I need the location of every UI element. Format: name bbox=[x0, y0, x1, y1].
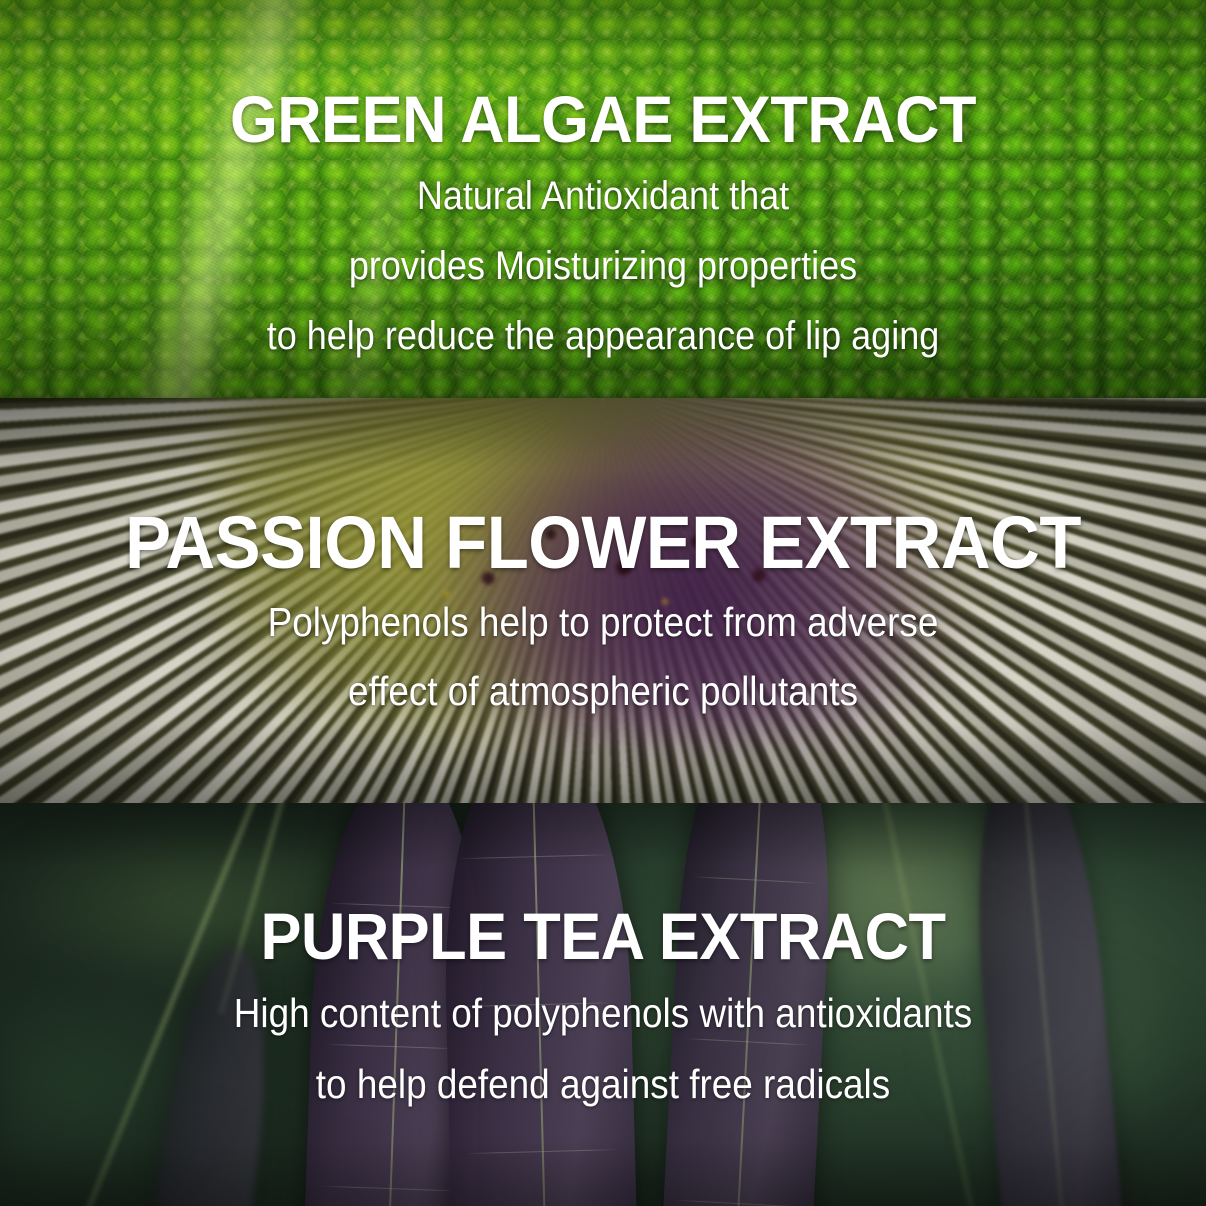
passion-flower-body-line-1: Polyphenols help to protect from adverse bbox=[60, 596, 1145, 649]
ingredient-infographic: GREEN ALGAE EXTRACT Natural Antioxidant … bbox=[0, 0, 1206, 1206]
panel-green-algae: GREEN ALGAE EXTRACT Natural Antioxidant … bbox=[0, 0, 1206, 398]
green-algae-body-line-1: Natural Antioxidant that bbox=[60, 170, 1145, 222]
purple-tea-body-line-1: High content of polyphenols with antioxi… bbox=[60, 987, 1145, 1040]
panel-passion-flower: PASSION FLOWER EXTRACT Polyphenols help … bbox=[0, 398, 1206, 803]
purple-tea-body-line-2: to help defend against free radicals bbox=[60, 1058, 1145, 1111]
passion-flower-headline: PASSION FLOWER EXTRACT bbox=[42, 506, 1164, 580]
green-algae-text-block: GREEN ALGAE EXTRACT Natural Antioxidant … bbox=[0, 86, 1206, 362]
green-algae-body-line-3: to help reduce the appearance of lip agi… bbox=[60, 310, 1145, 362]
green-algae-headline: GREEN ALGAE EXTRACT bbox=[42, 86, 1164, 152]
panel-purple-tea: PURPLE TEA EXTRACT High content of polyp… bbox=[0, 803, 1206, 1206]
passion-flower-text-block: PASSION FLOWER EXTRACT Polyphenols help … bbox=[0, 506, 1206, 719]
passion-flower-body-line-2: effect of atmospheric pollutants bbox=[60, 665, 1145, 718]
purple-tea-headline: PURPLE TEA EXTRACT bbox=[42, 903, 1164, 969]
green-algae-body-line-2: provides Moisturizing properties bbox=[60, 240, 1145, 292]
purple-tea-text-block: PURPLE TEA EXTRACT High content of polyp… bbox=[0, 903, 1206, 1112]
